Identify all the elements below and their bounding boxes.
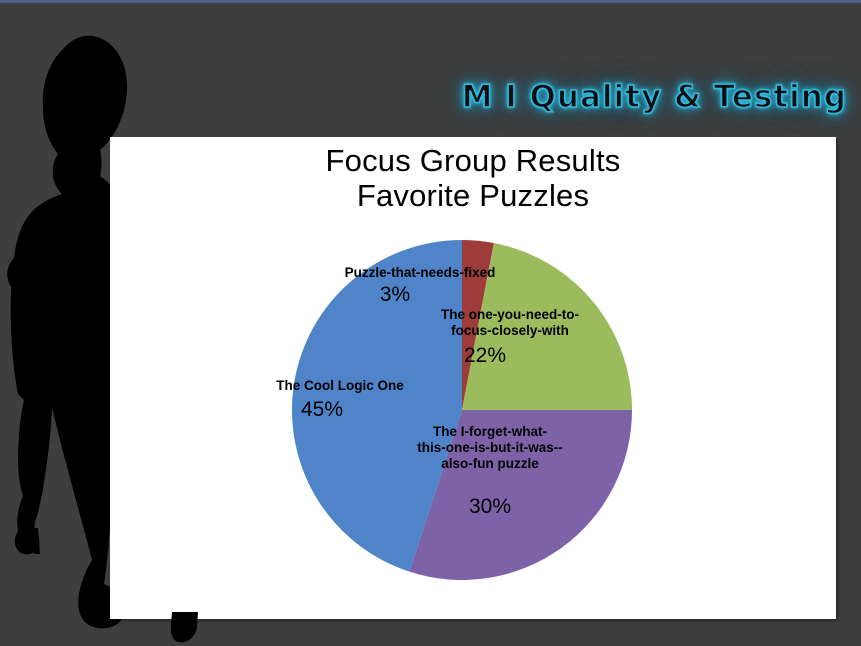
slide-top-accent-strip	[0, 0, 861, 3]
pie-slice-percent-blue: 45%	[290, 398, 354, 421]
pie-slice-label-green: The one-you-need-to- focus-closely-with	[385, 307, 635, 339]
chart-panel: Focus Group Results Favorite Puzzles Puz…	[110, 137, 836, 619]
pie-slice-label-blue: The Cool Logic One	[225, 378, 455, 394]
pie-slice-percent-purple: 30%	[460, 495, 520, 518]
pie-slice-percent-red: 3%	[365, 283, 425, 306]
slide-banner: M I Quality & Testing	[462, 76, 847, 118]
presentation-slide: M I Quality & Testing Focus Group Result…	[0, 0, 861, 646]
pie-slice-percent-green: 22%	[455, 344, 515, 367]
pie-slice-label-purple: The I-forget-what- this-one-is-but-it-wa…	[360, 424, 620, 472]
chart-title: Focus Group Results Favorite Puzzles	[110, 143, 836, 213]
shoe-tip-silhouette	[168, 612, 204, 646]
pie-slice-label-red: Puzzle-that-needs-fixed	[290, 265, 550, 281]
banner-title-text: M I Quality & Testing	[462, 79, 847, 115]
